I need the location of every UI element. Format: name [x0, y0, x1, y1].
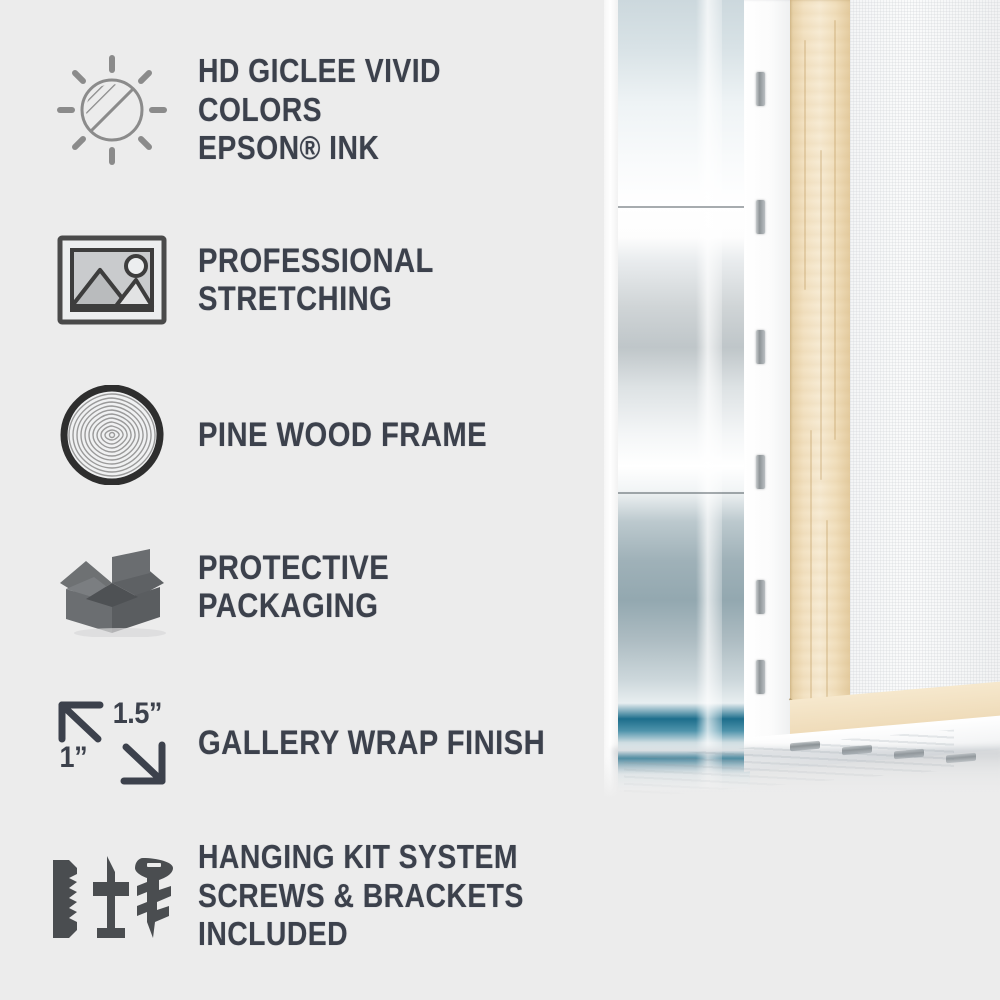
sun-icon — [48, 55, 176, 165]
staple — [756, 330, 765, 364]
canvas-back-fabric — [850, 0, 1000, 726]
staple — [756, 200, 765, 234]
feature-row-packaging: PROTECTIVE PACKAGING — [48, 532, 620, 642]
product-feature-infographic: HD GICLEE VIVID COLORS EPSON® INK PROFES… — [0, 0, 1000, 1000]
feature-row-hanging: HANGING KIT SYSTEM SCREWS & BRACKETS INC… — [48, 838, 620, 954]
feature-row-stretching: PROFESSIONAL STRETCHING — [48, 225, 620, 335]
staple — [756, 580, 765, 614]
feature-label-packaging: PROTECTIVE PACKAGING — [198, 549, 561, 625]
dimension-arrows-icon: 1.5” 1” — [48, 688, 176, 798]
wood-rings-icon — [48, 380, 176, 490]
canvas-back-corner-photo — [604, 0, 1000, 800]
feature-label-giclee: HD GICLEE VIVID COLORS EPSON® INK — [198, 52, 561, 168]
canvas-edge-seam-top — [618, 206, 750, 208]
framed-picture-icon — [48, 225, 176, 335]
feature-row-giclee: HD GICLEE VIVID COLORS EPSON® INK — [48, 52, 620, 168]
feature-label-hanging: HANGING KIT SYSTEM SCREWS & BRACKETS INC… — [198, 838, 561, 954]
canvas-edge-highlight — [696, 0, 722, 790]
canvas-front-lip — [744, 0, 794, 760]
feature-row-pine: PINE WOOD FRAME — [48, 380, 534, 490]
open-box-icon — [48, 532, 176, 642]
feature-list: HD GICLEE VIVID COLORS EPSON® INK PROFES… — [0, 0, 620, 1000]
canvas-edge-seam-mid — [618, 492, 750, 494]
feature-row-wrap: 1.5” 1” GALLERY WRAP FINISH — [48, 688, 602, 798]
staple — [756, 455, 765, 489]
feature-label-wrap: GALLERY WRAP FINISH — [198, 724, 545, 762]
hardware-icon — [48, 841, 176, 951]
staple — [756, 72, 765, 106]
feature-label-stretching: PROFESSIONAL STRETCHING — [198, 242, 561, 318]
feature-label-pine: PINE WOOD FRAME — [198, 416, 487, 454]
staple — [756, 660, 765, 694]
canvas-wrapped-side-edge — [618, 0, 750, 790]
dimension-label-upper: 1.5” — [113, 697, 162, 731]
dimension-label-lower: 1” — [60, 741, 88, 775]
photo-bottom-fade — [604, 756, 1000, 800]
pine-stretcher-bar — [790, 0, 852, 740]
